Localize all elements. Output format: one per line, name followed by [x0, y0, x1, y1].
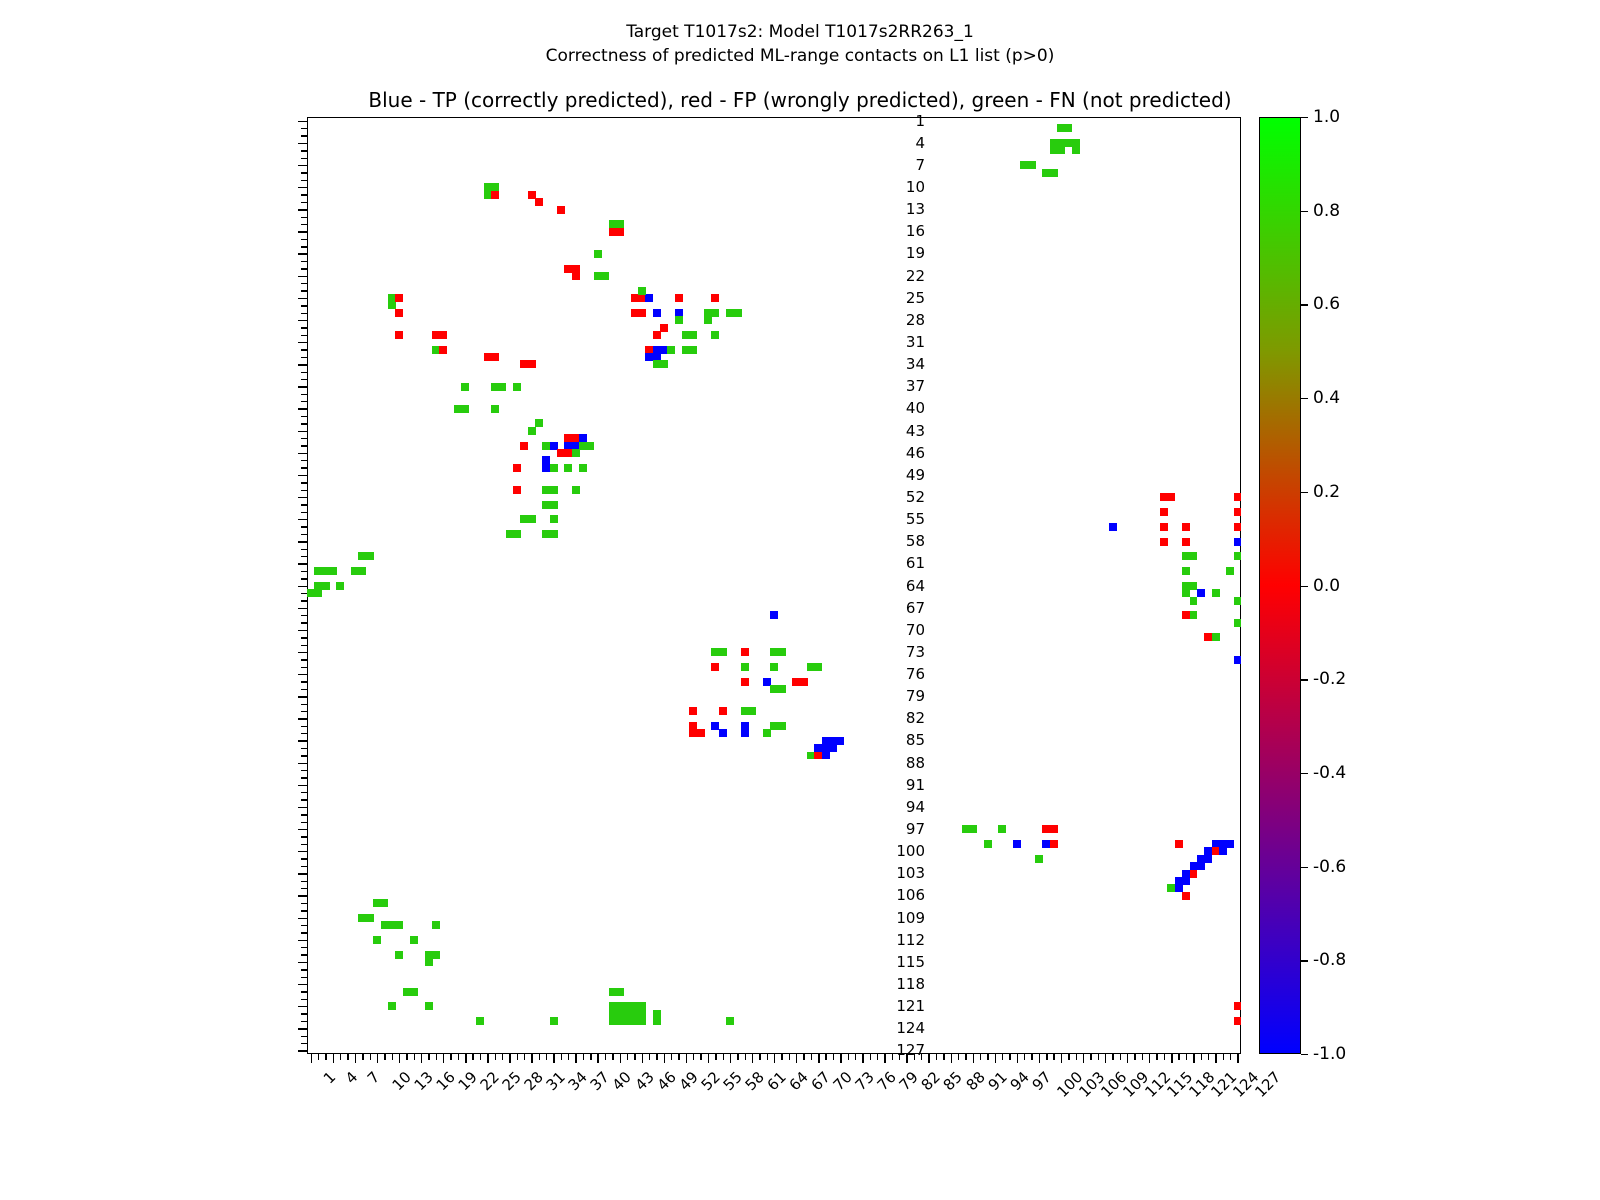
contact-cell-tp — [1182, 877, 1190, 885]
y-tick-label: 106 — [896, 886, 925, 904]
x-tick — [524, 1054, 525, 1060]
x-tick-label: 4 — [342, 1068, 361, 1087]
contact-cell-fp — [491, 191, 499, 199]
y-tick — [298, 253, 307, 254]
y-tick — [298, 608, 307, 609]
y-tick — [301, 977, 307, 978]
contact-cell-fn — [660, 360, 668, 368]
x-tick — [1178, 1054, 1179, 1060]
y-tick — [298, 187, 307, 188]
y-tick — [298, 121, 307, 122]
x-tick — [774, 1054, 775, 1063]
contact-cell-fn — [513, 530, 521, 538]
colorbar-gradient — [1259, 117, 1301, 1054]
contact-cell-tp — [770, 611, 778, 619]
y-tick — [298, 453, 307, 454]
y-tick — [301, 283, 307, 284]
colorbar-tick — [1301, 867, 1308, 868]
contact-cell-fn — [1226, 567, 1234, 575]
y-tick — [301, 1013, 307, 1014]
contact-cell-fn — [814, 663, 822, 671]
contact-cell-fp — [1050, 825, 1058, 833]
x-tick — [752, 1054, 753, 1063]
x-tick — [686, 1054, 687, 1063]
contact-cell-tp — [719, 729, 727, 737]
contact-cell-fp — [528, 360, 536, 368]
y-tick-label: 4 — [915, 134, 925, 152]
contact-cell-fp — [653, 331, 661, 339]
contact-cell-fn — [719, 648, 727, 656]
chart-title-line-2: Correctness of predicted ML-range contac… — [0, 44, 1600, 68]
contact-cell-tp — [1234, 538, 1241, 546]
contact-cell-fn — [704, 316, 712, 324]
y-tick-label: 7 — [915, 156, 925, 174]
x-tick — [796, 1054, 797, 1063]
contact-cell-tp — [829, 744, 837, 752]
x-tick — [553, 1054, 554, 1063]
x-tick — [995, 1054, 996, 1063]
x-tick — [877, 1054, 878, 1060]
y-tick — [301, 556, 307, 557]
contact-cell-fn — [395, 921, 403, 929]
y-tick-label: 124 — [896, 1019, 925, 1037]
x-tick — [642, 1054, 643, 1063]
contact-cell-fn — [778, 648, 786, 656]
y-tick-label: 37 — [906, 377, 925, 395]
contact-cell-tp — [1219, 847, 1227, 855]
y-tick — [298, 1028, 307, 1029]
y-tick — [301, 135, 307, 136]
y-tick — [298, 829, 307, 830]
contact-cell-tp — [653, 309, 661, 317]
x-tick — [730, 1054, 731, 1063]
contact-cell-fp — [1182, 523, 1190, 531]
colorbar-tick — [1301, 773, 1308, 774]
contact-cell-fp — [1234, 1002, 1241, 1010]
x-tick — [951, 1054, 952, 1063]
x-tick — [620, 1054, 621, 1063]
x-tick — [568, 1054, 569, 1060]
contact-cell-fn — [711, 331, 719, 339]
contact-cell-fn — [689, 346, 697, 354]
y-tick — [301, 615, 307, 616]
y-tick — [301, 372, 307, 373]
y-tick — [298, 231, 307, 232]
colorbar-tick-label: 0.6 — [1313, 294, 1340, 314]
contact-cell-fn — [381, 899, 389, 907]
x-tick — [811, 1054, 812, 1060]
x-tick — [708, 1054, 709, 1063]
y-tick — [301, 844, 307, 845]
x-tick — [590, 1054, 591, 1060]
contact-cell-fn — [616, 988, 624, 996]
y-tick — [301, 748, 307, 749]
y-tick — [301, 792, 307, 793]
contact-cell-fp — [616, 228, 624, 236]
x-tick-label: 127 — [1252, 1068, 1285, 1101]
y-tick — [301, 401, 307, 402]
y-tick — [301, 512, 307, 513]
x-tick — [921, 1054, 922, 1060]
contact-cell-fp — [719, 707, 727, 715]
y-tick — [298, 165, 307, 166]
y-tick — [301, 726, 307, 727]
y-tick-label: 16 — [906, 222, 925, 240]
x-tick — [737, 1054, 738, 1060]
colorbar-tick — [1301, 492, 1308, 493]
x-tick — [1090, 1054, 1091, 1060]
y-tick — [301, 822, 307, 823]
contact-cell-fn — [1182, 567, 1190, 575]
contact-cell-tp — [837, 737, 845, 745]
y-tick — [298, 408, 307, 409]
x-tick — [914, 1054, 915, 1060]
contact-cell-tp — [1013, 840, 1021, 848]
y-tick-label: 94 — [906, 798, 925, 816]
x-tick — [1186, 1054, 1187, 1060]
contact-cell-fn — [1234, 619, 1241, 627]
colorbar-tick-label: -0.4 — [1313, 763, 1346, 783]
contact-cell-fp — [1050, 840, 1058, 848]
contact-cell-fn — [667, 346, 675, 354]
y-tick — [301, 327, 307, 328]
contact-cell-tp — [645, 294, 653, 302]
colorbar-tick — [1301, 586, 1308, 587]
x-tick — [1134, 1054, 1135, 1060]
contact-cell-fp — [711, 663, 719, 671]
contact-cell-fn — [498, 383, 506, 391]
y-tick — [301, 305, 307, 306]
x-tick — [458, 1054, 459, 1060]
x-tick — [1046, 1054, 1047, 1060]
x-tick — [715, 1054, 716, 1060]
y-tick — [301, 335, 307, 336]
y-tick-label: 112 — [896, 931, 925, 949]
x-tick — [450, 1054, 451, 1060]
contact-cell-fn — [711, 309, 719, 317]
y-tick — [301, 711, 307, 712]
contact-cell-fp — [1234, 508, 1241, 516]
x-tick — [377, 1054, 378, 1063]
contact-cell-fn — [1064, 124, 1072, 132]
x-tick — [1083, 1054, 1084, 1063]
x-tick — [973, 1054, 974, 1063]
x-tick — [1156, 1054, 1157, 1060]
y-tick — [298, 475, 307, 476]
y-tick — [301, 416, 307, 417]
y-tick — [301, 733, 307, 734]
y-tick — [301, 991, 307, 992]
y-tick-label: 115 — [896, 953, 925, 971]
x-tick — [406, 1054, 407, 1060]
contact-cell-fn — [1057, 147, 1065, 155]
y-tick — [301, 217, 307, 218]
contact-cell-tp — [1109, 523, 1117, 531]
x-tick — [1009, 1054, 1010, 1060]
y-tick — [301, 903, 307, 904]
colorbar-tick-label: 0.2 — [1313, 482, 1340, 502]
contact-cell-fn — [550, 501, 558, 509]
x-tick — [899, 1054, 900, 1060]
contact-cell-fn — [550, 464, 558, 472]
y-tick — [298, 785, 307, 786]
contact-cell-fn — [969, 825, 977, 833]
y-tick-label: 97 — [906, 820, 925, 838]
y-tick — [301, 194, 307, 195]
contact-cell-fn — [1212, 633, 1220, 641]
contact-cell-fn — [410, 988, 418, 996]
y-tick — [301, 290, 307, 291]
y-tick-label: 73 — [906, 643, 925, 661]
x-tick — [1017, 1054, 1018, 1063]
colorbar-tick-label: -0.8 — [1313, 950, 1346, 970]
x-tick — [1098, 1054, 1099, 1060]
contact-cell-fn — [1035, 855, 1043, 863]
x-tick — [340, 1054, 341, 1060]
x-tick — [1112, 1054, 1113, 1060]
x-tick — [840, 1054, 841, 1063]
contact-cell-fn — [395, 951, 403, 959]
y-tick — [301, 888, 307, 889]
y-tick — [301, 534, 307, 535]
y-tick — [301, 1021, 307, 1022]
y-tick — [301, 379, 307, 380]
y-tick — [301, 180, 307, 181]
contact-cell-fn — [601, 272, 609, 280]
chart-title-block: Target T1017s2: Model T1017s2RR263_1 Cor… — [0, 20, 1600, 68]
contact-cell-fn — [748, 707, 756, 715]
contact-cell-fn — [336, 582, 344, 590]
y-tick-label: 31 — [906, 333, 925, 351]
contact-cell-fn — [763, 729, 771, 737]
contact-cell-fn — [778, 685, 786, 693]
contact-cell-fn — [425, 958, 433, 966]
contact-cell-fn — [550, 530, 558, 538]
y-tick — [301, 681, 307, 682]
contact-cell-fn — [461, 405, 469, 413]
y-tick — [301, 349, 307, 350]
contact-cell-tp — [1204, 855, 1212, 863]
x-tick — [392, 1054, 393, 1060]
y-tick — [298, 851, 307, 852]
contact-map-plot: 1471013161922252831343740434649525558616… — [307, 117, 1241, 1054]
x-tick — [539, 1054, 540, 1060]
contact-cell-fp — [513, 486, 521, 494]
y-tick — [301, 313, 307, 314]
y-tick — [298, 298, 307, 299]
x-tick — [1149, 1054, 1150, 1063]
y-tick-label: 64 — [906, 577, 925, 595]
contact-cell-fn — [572, 449, 580, 457]
x-tick — [1201, 1054, 1202, 1060]
colorbar-tick — [1301, 211, 1308, 212]
x-tick — [421, 1054, 422, 1063]
y-tick — [301, 659, 307, 660]
x-tick — [325, 1054, 326, 1060]
y-tick — [301, 969, 307, 970]
y-tick — [301, 777, 307, 778]
x-tick — [509, 1054, 510, 1063]
contact-cell-fn — [476, 1017, 484, 1025]
x-tick — [575, 1054, 576, 1063]
contact-cell-fn — [1234, 597, 1241, 605]
x-tick — [980, 1054, 981, 1060]
y-tick — [301, 490, 307, 491]
y-tick-label: 67 — [906, 599, 925, 617]
y-tick — [301, 467, 307, 468]
contact-cell-fn — [1072, 147, 1080, 155]
y-tick — [301, 836, 307, 837]
x-tick — [943, 1054, 944, 1060]
y-tick-label: 34 — [906, 355, 925, 373]
x-tick — [745, 1054, 746, 1060]
x-tick — [906, 1054, 907, 1063]
contact-cell-fn — [314, 589, 322, 597]
x-tick — [605, 1054, 606, 1060]
y-tick — [301, 202, 307, 203]
y-tick-label: 19 — [906, 244, 925, 262]
x-tick — [1105, 1054, 1106, 1063]
y-tick-label: 10 — [906, 178, 925, 196]
contact-cell-fp — [1234, 493, 1241, 501]
contact-cell-fn — [1190, 611, 1198, 619]
contact-cell-fn — [550, 1017, 558, 1025]
y-tick-label: 25 — [906, 289, 925, 307]
y-tick — [298, 320, 307, 321]
x-tick — [759, 1054, 760, 1060]
y-tick — [298, 895, 307, 896]
contact-cell-fn — [513, 383, 521, 391]
y-tick — [301, 954, 307, 955]
contact-cell-fn — [770, 663, 778, 671]
y-tick — [301, 172, 307, 173]
y-tick — [301, 689, 307, 690]
contact-cell-fp — [572, 272, 580, 280]
contact-cell-tp — [1197, 589, 1205, 597]
x-tick — [693, 1054, 694, 1060]
x-tick — [892, 1054, 893, 1060]
contact-cell-fp — [741, 648, 749, 656]
x-tick — [958, 1054, 959, 1060]
x-tick — [318, 1054, 319, 1060]
contact-cell-fn — [329, 567, 337, 575]
y-tick-label: 40 — [906, 399, 925, 417]
contact-cell-tp — [822, 752, 830, 760]
x-tick — [1237, 1054, 1238, 1063]
contact-cell-fp — [439, 346, 447, 354]
contact-cell-fn — [1190, 552, 1198, 560]
x-tick — [465, 1054, 466, 1063]
colorbar: 1.00.80.60.40.20.0-0.2-0.4-0.6-0.8-1.0 — [1259, 117, 1301, 1054]
y-tick-label: 103 — [896, 864, 925, 882]
contact-cell-fp — [741, 678, 749, 686]
contact-cell-fp — [395, 309, 403, 317]
y-tick — [301, 593, 307, 594]
chart-legend-caption: Blue - TP (correctly predicted), red - F… — [0, 88, 1600, 112]
x-tick — [370, 1054, 371, 1060]
y-tick — [298, 1006, 307, 1007]
contact-cell-fn — [1050, 169, 1058, 177]
y-tick-label: 109 — [896, 909, 925, 927]
y-tick-label: 22 — [906, 267, 925, 285]
y-tick — [298, 1050, 307, 1051]
y-tick — [298, 143, 307, 144]
y-tick-label: 55 — [906, 510, 925, 528]
x-tick — [1208, 1054, 1209, 1060]
y-tick-label: 79 — [906, 687, 925, 705]
x-tick — [781, 1054, 782, 1060]
y-tick — [298, 962, 307, 963]
y-tick — [301, 932, 307, 933]
y-tick — [298, 696, 307, 697]
contact-cell-fn — [432, 921, 440, 929]
y-tick — [301, 438, 307, 439]
x-tick — [987, 1054, 988, 1060]
x-tick — [789, 1054, 790, 1060]
x-tick — [362, 1054, 363, 1060]
contact-cell-fn — [579, 464, 587, 472]
y-tick — [301, 881, 307, 882]
y-tick — [301, 814, 307, 815]
y-tick — [301, 925, 307, 926]
x-tick — [502, 1054, 503, 1060]
x-tick — [803, 1054, 804, 1060]
x-tick — [1120, 1054, 1121, 1060]
x-tick — [561, 1054, 562, 1060]
contact-cell-fp — [711, 294, 719, 302]
contact-cell-fp — [1190, 870, 1198, 878]
y-tick — [298, 918, 307, 919]
x-tick — [1171, 1054, 1172, 1063]
contact-cell-fn — [594, 250, 602, 258]
contact-cell-fn — [734, 309, 742, 317]
contact-cell-fp — [1160, 508, 1168, 516]
contact-cell-fp — [689, 707, 697, 715]
contact-cell-fn — [432, 951, 440, 959]
y-tick — [301, 394, 307, 395]
y-tick — [298, 586, 307, 587]
x-tick — [936, 1054, 937, 1060]
y-tick — [301, 637, 307, 638]
x-tick — [965, 1054, 966, 1060]
contact-cell-fp — [638, 309, 646, 317]
y-tick — [298, 541, 307, 542]
contact-cell-fn — [358, 567, 366, 575]
contact-cell-fp — [535, 198, 543, 206]
x-tick-label: 97 — [1028, 1068, 1054, 1094]
y-tick-label: 13 — [906, 200, 925, 218]
x-tick — [546, 1054, 547, 1060]
y-tick — [298, 563, 307, 564]
y-tick — [298, 807, 307, 808]
x-tick — [472, 1054, 473, 1060]
y-tick — [301, 128, 307, 129]
contact-cell-fn — [638, 1017, 646, 1025]
y-tick — [301, 246, 307, 247]
x-tick — [634, 1054, 635, 1060]
colorbar-tick — [1301, 304, 1308, 305]
contact-cell-fn — [535, 419, 543, 427]
x-tick — [1053, 1054, 1054, 1060]
y-tick — [298, 718, 307, 719]
y-tick-label: 85 — [906, 731, 925, 749]
x-tick — [767, 1054, 768, 1060]
x-tick — [1024, 1054, 1025, 1060]
x-tick — [649, 1054, 650, 1060]
contact-cell-fn — [1028, 161, 1036, 169]
y-tick — [301, 667, 307, 668]
y-tick-label: 76 — [906, 665, 925, 683]
